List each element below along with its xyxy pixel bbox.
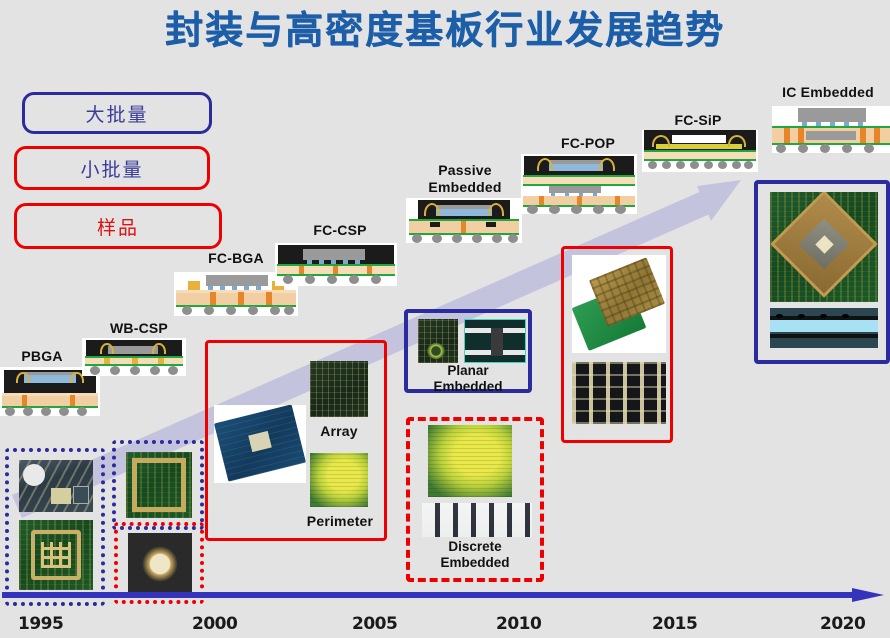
year-tick-2015: 2015 — [652, 614, 697, 634]
group-legacy-csp[interactable] — [112, 440, 204, 530]
legend-small-batch[interactable]: 小批量 — [14, 146, 210, 190]
pkg-figure-wb-csp — [82, 338, 186, 376]
photo-array-chip — [310, 361, 368, 417]
group-substrate-samples[interactable] — [561, 246, 673, 443]
year-tick-2000: 2000 — [192, 614, 237, 634]
pkg-figure-fc-sip — [642, 130, 758, 172]
group-array-perimeter[interactable]: Array Perimeter — [205, 340, 387, 541]
legend-sample[interactable]: 样品 — [14, 203, 222, 249]
pkg-label-passive-embedded: Passive Embedded — [410, 162, 520, 196]
pkg-label-fc-bga: FC-BGA — [196, 250, 276, 267]
legend-label: 小批量 — [80, 155, 143, 182]
pkg-label-wb-csp: WB-CSP — [96, 320, 182, 337]
photo-ic-embedded-top — [770, 192, 878, 302]
pkg-label-fc-csp: FC-CSP — [300, 222, 380, 239]
photo-module-board — [214, 405, 306, 483]
photo-discrete-cross-section — [422, 503, 532, 537]
photo-legacy-csp-top — [126, 452, 192, 518]
group-label-planar-embedded: Planar Embedded — [408, 363, 528, 395]
group-planar-embedded[interactable]: Planar Embedded — [404, 309, 532, 393]
photo-ic-embedded-cross-section — [770, 308, 878, 348]
timeline-axis — [0, 588, 890, 602]
legend-label: 样品 — [97, 213, 139, 240]
legend-label: 大批量 — [85, 100, 148, 127]
photo-legacy-sample-chip — [128, 533, 192, 595]
year-tick-1995: 1995 — [18, 614, 63, 634]
legend-mass-production[interactable]: 大批量 — [22, 92, 212, 134]
year-tick-2005: 2005 — [352, 614, 397, 634]
pkg-label-pbga: PBGA — [6, 348, 78, 365]
photo-planar-component — [418, 319, 458, 363]
photo-discrete-board — [428, 425, 512, 497]
photo-label-perimeter: Perimeter — [300, 513, 380, 530]
pkg-figure-passive-embedded — [406, 198, 522, 243]
pkg-label-fc-pop: FC-POP — [548, 135, 628, 152]
slide-canvas: 封装与高密度基板行业发展趋势 大批量 小批量 样品 PBGA WB-CSP — [0, 0, 890, 638]
year-tick-2020: 2020 — [820, 614, 865, 634]
photo-substrate-stack — [572, 255, 666, 353]
page-title: 封装与高密度基板行业发展趋势 — [0, 6, 890, 54]
group-legacy-bga[interactable] — [5, 448, 105, 606]
photo-legacy-bga-top — [19, 520, 93, 590]
group-discrete-embedded[interactable]: Discrete Embedded — [406, 417, 544, 582]
photo-substrate-cross-section — [572, 362, 666, 424]
pkg-figure-fc-csp — [275, 243, 397, 286]
photo-perimeter-chip — [310, 453, 368, 507]
pkg-label-fc-sip: FC-SiP — [662, 112, 734, 129]
group-label-discrete-embedded: Discrete Embedded — [410, 539, 540, 571]
pkg-figure-fc-pop — [521, 154, 637, 214]
photo-label-array: Array — [310, 423, 368, 440]
photo-planar-cross-section — [464, 319, 526, 363]
pkg-figure-ic-embedded — [772, 106, 890, 153]
group-ic-embedded-photos[interactable] — [754, 180, 890, 364]
photo-legacy-module — [19, 460, 93, 512]
pkg-label-ic-embedded: IC Embedded — [766, 84, 890, 101]
year-tick-2010: 2010 — [496, 614, 541, 634]
